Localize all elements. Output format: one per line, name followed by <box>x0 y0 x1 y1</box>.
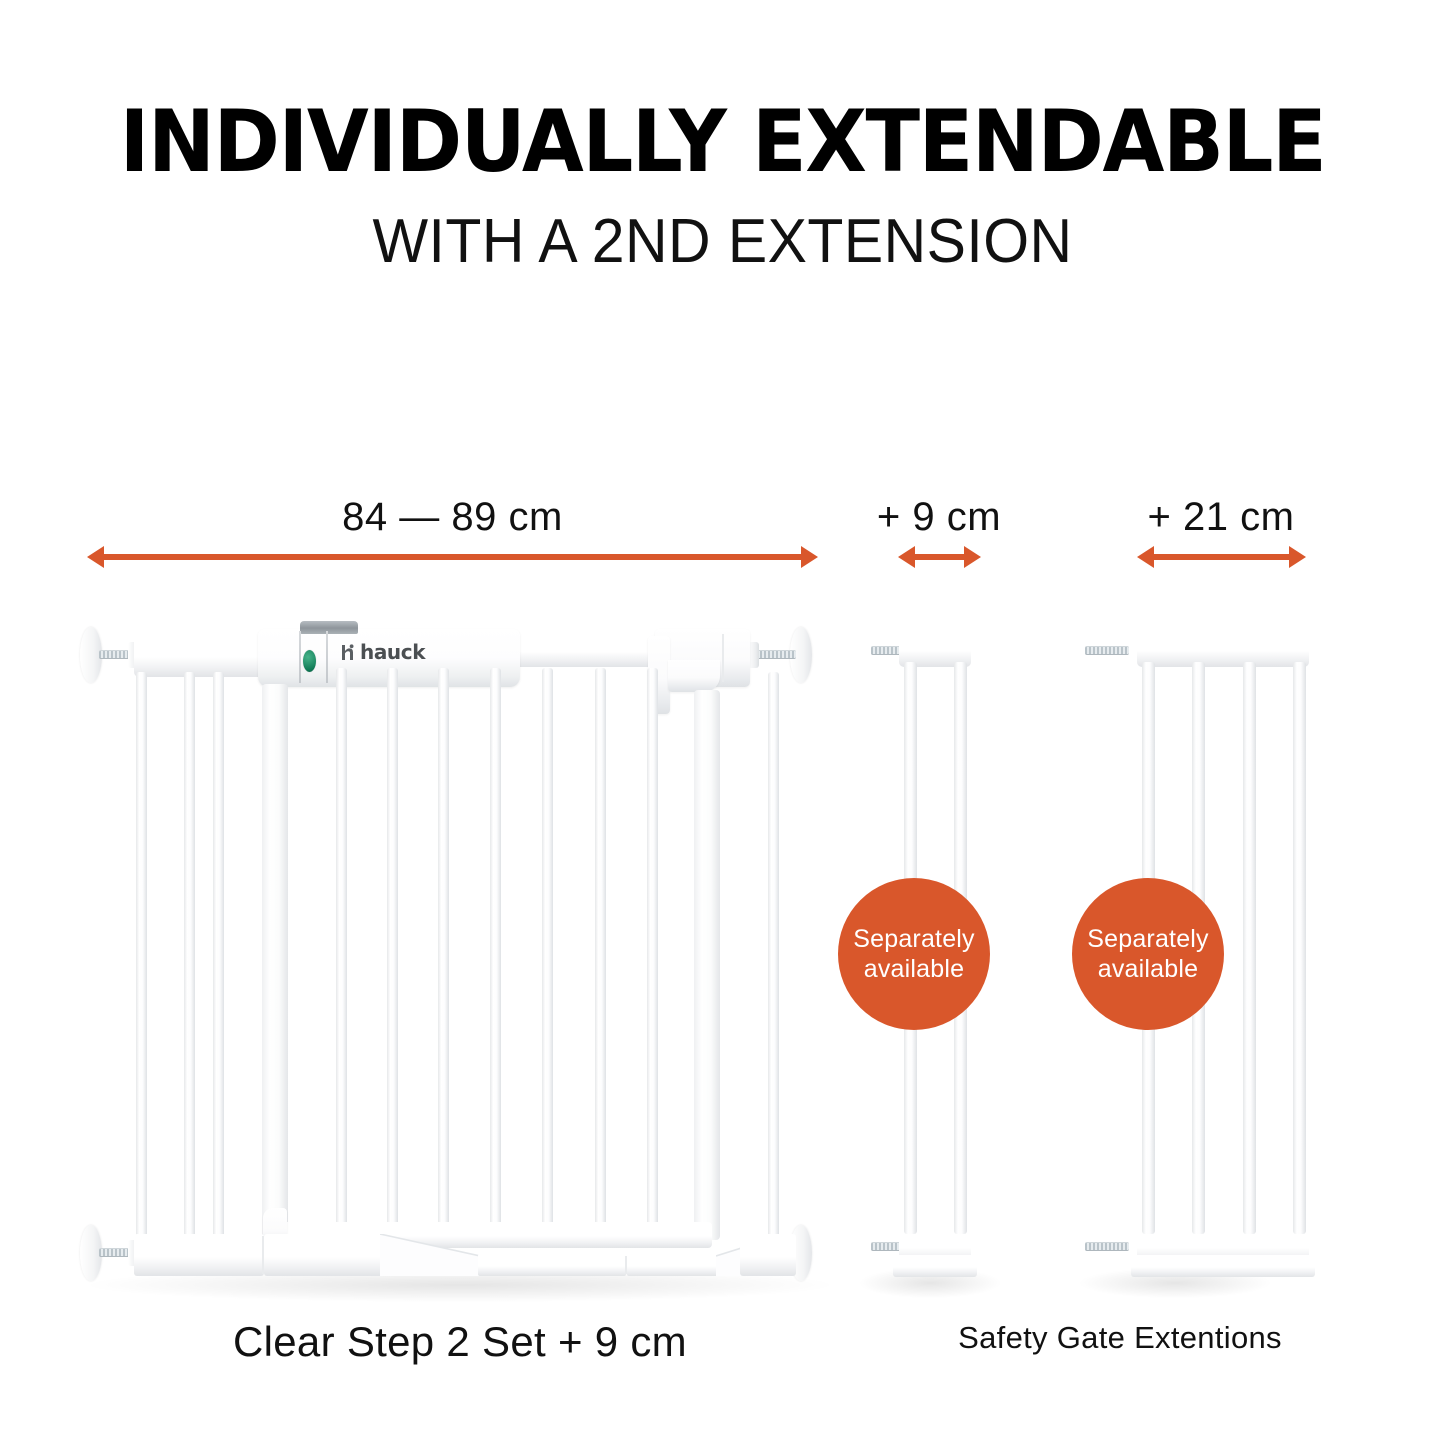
arrow-shaft <box>910 554 969 560</box>
gate-bar <box>387 668 398 1238</box>
dimension-arrow-extension-9 <box>898 545 981 569</box>
gate-bar <box>768 672 779 1238</box>
arrow-head-right-icon <box>1289 546 1306 568</box>
gate-threshold-low-center <box>478 1254 626 1276</box>
gate-hinge-shoulder <box>668 660 720 692</box>
dimension-label-extension-9: + 9 cm <box>849 495 1029 540</box>
arrow-head-right-icon <box>801 546 818 568</box>
gate-bar <box>438 668 449 1238</box>
badge-line-1: Separately <box>853 924 975 955</box>
ext21-bar <box>1293 662 1306 1234</box>
page-headline: INDIVIDUALLY EXTENDABLE <box>51 92 1395 192</box>
ext21-connector-pin-bottom-icon <box>1085 1242 1129 1251</box>
gate-threshold-low-center-2 <box>627 1254 722 1276</box>
threaded-bolt-top-right-icon <box>756 650 796 659</box>
dimension-label-extension-21: + 21 cm <box>1131 495 1311 540</box>
badge-separately-available-ext21: Separately available <box>1072 878 1224 1030</box>
gate-door-stile-left <box>262 684 288 1240</box>
gate-door-stile-right <box>694 690 720 1240</box>
brand-logo: hauck <box>341 640 425 664</box>
gate-bar <box>136 672 147 1238</box>
dimension-arrow-extension-21 <box>1137 545 1306 569</box>
gate-top-rail-left-section <box>134 633 264 677</box>
badge-separately-available-ext9: Separately available <box>838 878 990 1030</box>
dimension-arrow-gate-width <box>87 545 818 569</box>
gate-caption: Clear Step 2 Set + 9 cm <box>90 1318 830 1366</box>
gate-bar <box>213 672 224 1238</box>
gate-bar <box>595 668 606 1238</box>
badge-line-2: available <box>1098 954 1198 985</box>
arrow-shaft <box>99 554 806 560</box>
ext21-bar <box>1243 662 1256 1234</box>
arrow-shaft <box>1149 554 1294 560</box>
slide-lock-handle[interactable] <box>300 621 358 634</box>
gate-threshold-right-section <box>740 1234 796 1276</box>
ext21-top-block <box>1137 631 1309 667</box>
gate-bar <box>542 668 553 1238</box>
gate-threshold-left-section <box>134 1234 264 1276</box>
lock-status-indicator-icon <box>303 650 316 672</box>
hinge-seam <box>722 634 724 682</box>
lock-housing-seam-right <box>326 631 328 683</box>
gate-bar <box>184 672 195 1238</box>
gate-bar <box>647 668 658 1238</box>
arrow-head-right-icon <box>964 546 981 568</box>
badge-line-2: available <box>864 954 964 985</box>
brand-name: hauck <box>360 640 425 664</box>
dimension-label-gate-width: 84 — 89 cm <box>87 495 818 540</box>
badge-line-1: Separately <box>1087 924 1209 955</box>
ext21-bottom-foot <box>1131 1255 1315 1277</box>
lock-housing-seam-left <box>299 631 301 683</box>
hauck-logo-icon <box>341 644 355 661</box>
page-subheadline: WITH A 2ND EXTENSION <box>36 206 1409 277</box>
gate-threshold-ramp-left <box>380 1234 480 1276</box>
ext21-connector-pin-top-icon <box>1085 646 1129 655</box>
ext9-bottom-foot <box>893 1255 977 1277</box>
gate-bar <box>336 668 347 1238</box>
extensions-caption: Safety Gate Extentions <box>930 1320 1310 1356</box>
gate-bar <box>490 668 501 1238</box>
gate-threshold-telescoping-section <box>264 1234 394 1276</box>
